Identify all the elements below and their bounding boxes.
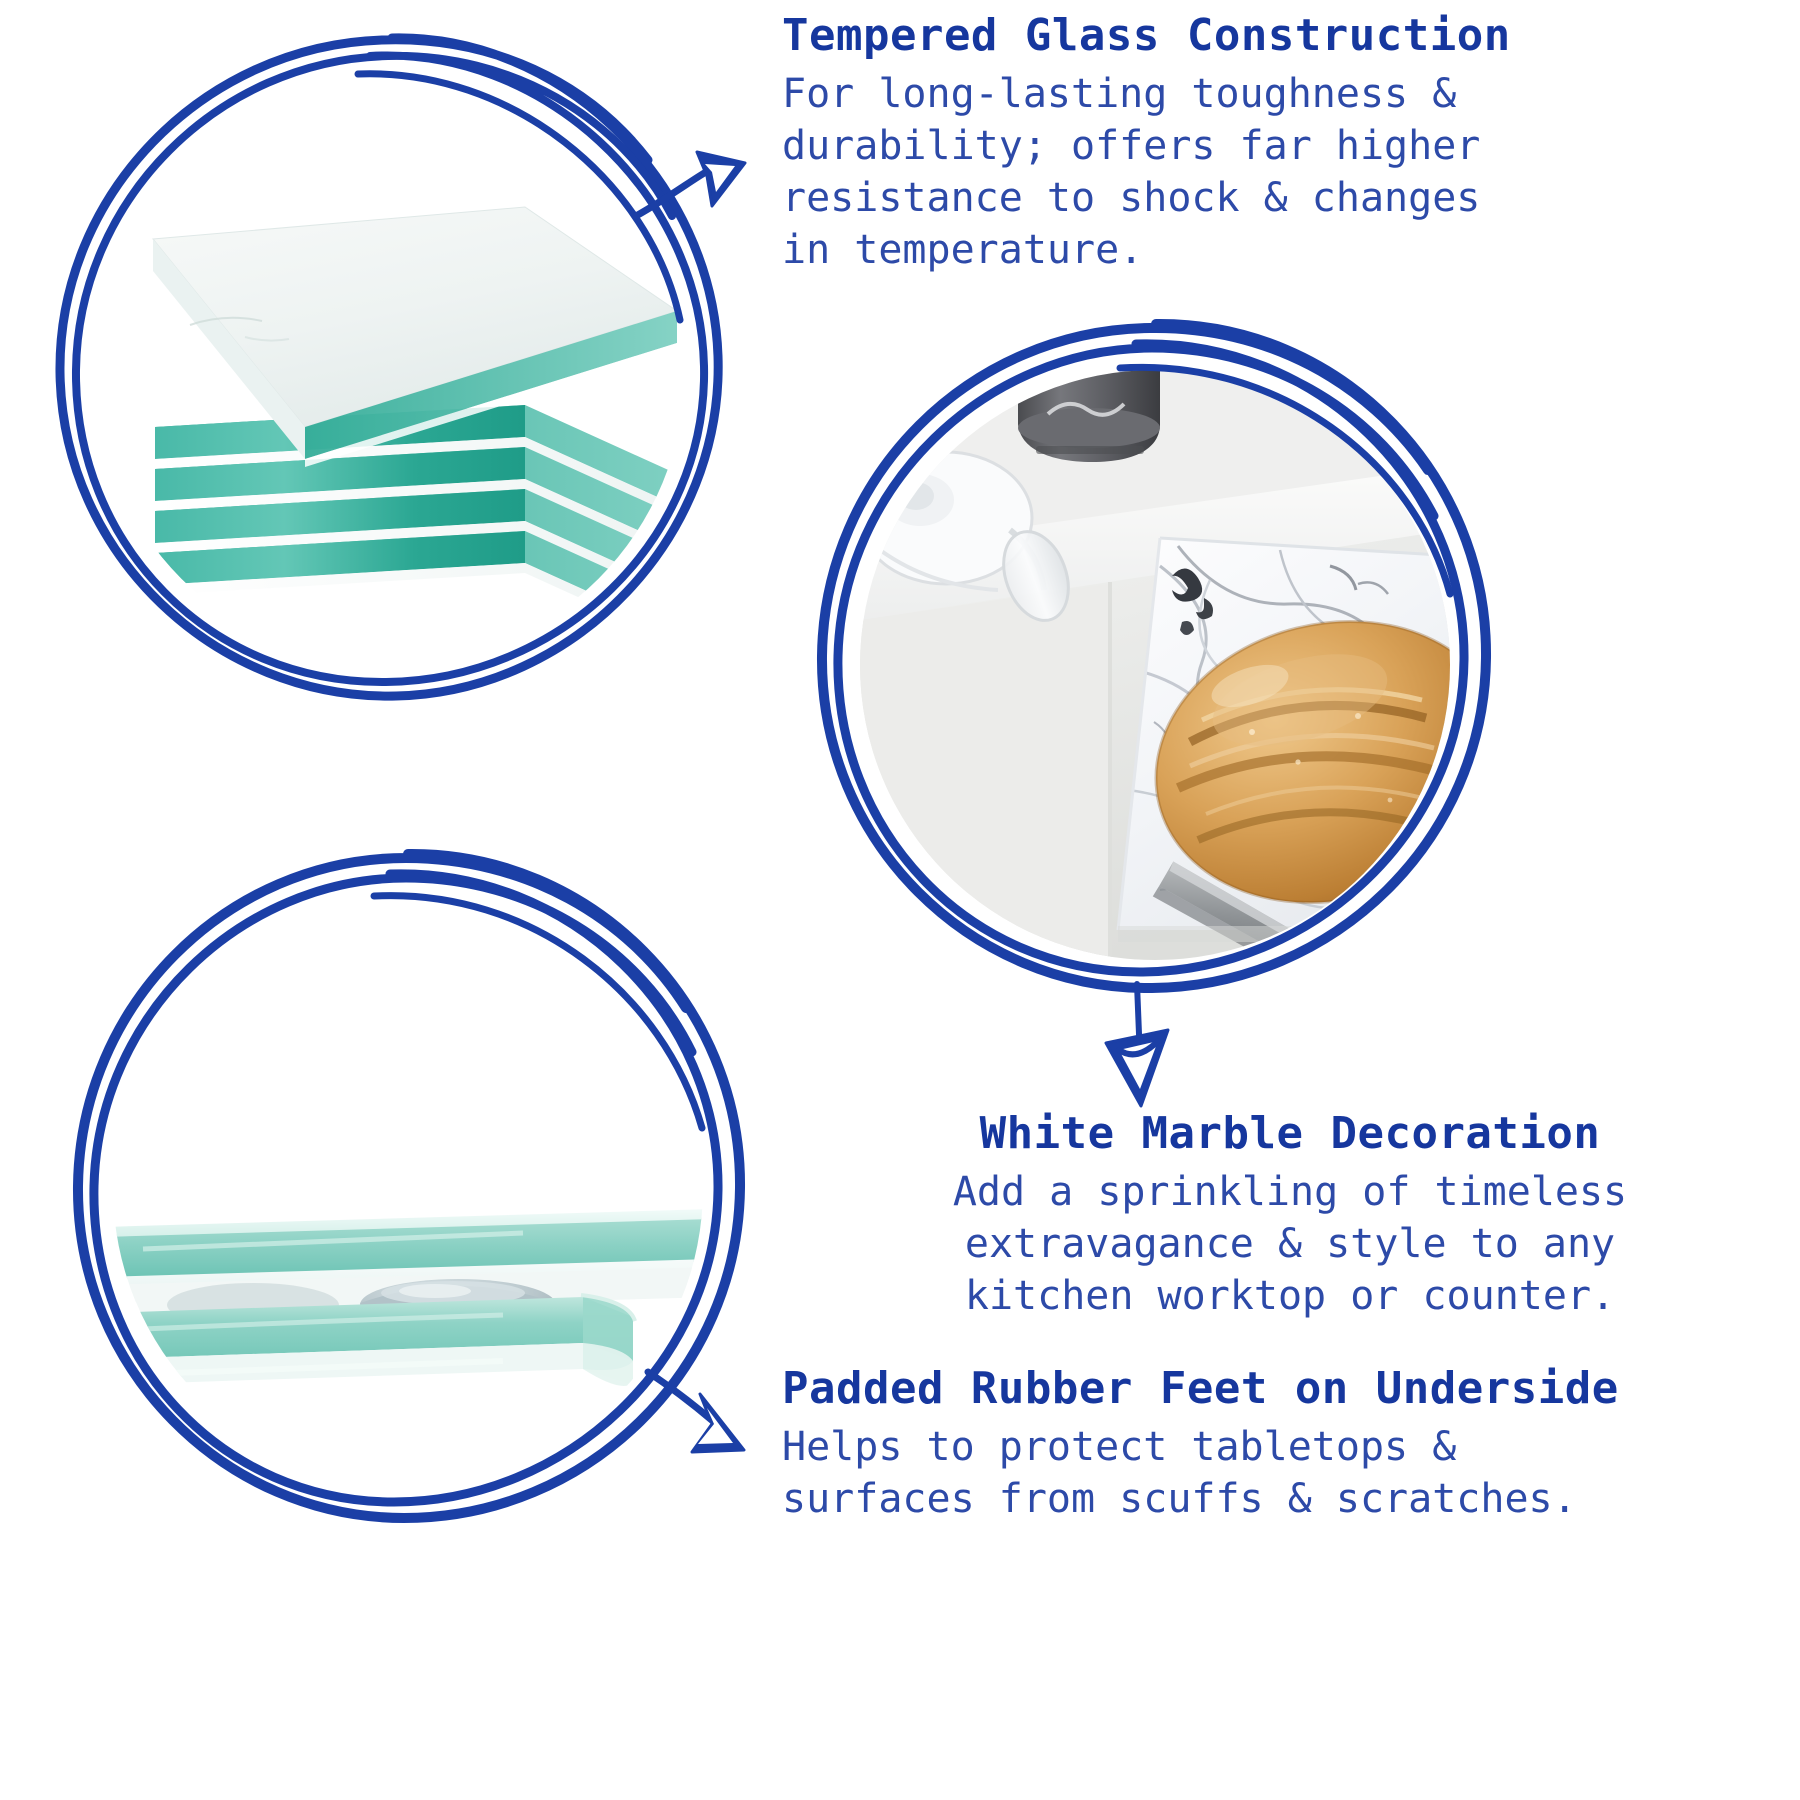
body-line: resistance to shock & changes [782,172,1782,224]
feature-body-tempered-glass: For long-lasting toughness & durability;… [782,68,1782,276]
glass-stack-illustration [95,75,685,665]
title-line: Padded Rubber Feet on [782,1363,1349,1414]
title-line: Underside [1376,1363,1619,1414]
body-line: durability; offers far higher [782,120,1782,172]
marble-board-photo [860,370,1450,960]
body-line: extravagance & style to any [800,1218,1780,1270]
feature-body-white-marble: Add a sprinkling of timeless extravaganc… [800,1166,1780,1322]
body-line: kitchen worktop or counter. [800,1270,1780,1322]
feature-text-tempered-glass: Tempered Glass Construction For long-las… [782,10,1782,276]
feature-image-white-marble [800,310,1500,1010]
feature-body-padded-rubber-feet: Helps to protect tabletops & surfaces fr… [782,1421,1792,1525]
body-line: Helps to protect tabletops & [782,1421,1792,1473]
marble-board-illustration [860,370,1450,960]
glass-edge-photo [113,893,703,1483]
body-line: in temperature. [782,224,1782,276]
infographic-canvas: Tempered Glass Construction For long-las… [0,0,1800,1800]
feature-title-white-marble: White Marble Decoration [800,1108,1780,1160]
feature-image-tempered-glass [40,20,740,720]
glass-stack-photo [95,75,685,665]
body-line: For long-lasting toughness & [782,68,1782,120]
feature-title-padded-rubber-feet: Padded Rubber Feet on Underside [782,1363,1792,1415]
body-line: Add a sprinkling of timeless [800,1166,1780,1218]
feature-image-padded-rubber-feet [58,838,758,1538]
feature-title-tempered-glass: Tempered Glass Construction [782,10,1782,62]
glass-edge-illustration [113,893,703,1483]
feature-text-padded-rubber-feet: Padded Rubber Feet on Underside Helps to… [782,1363,1792,1525]
feature-text-white-marble: White Marble Decoration Add a sprinkling… [800,1108,1780,1322]
body-line: surfaces from scuffs & scratches. [782,1473,1792,1525]
